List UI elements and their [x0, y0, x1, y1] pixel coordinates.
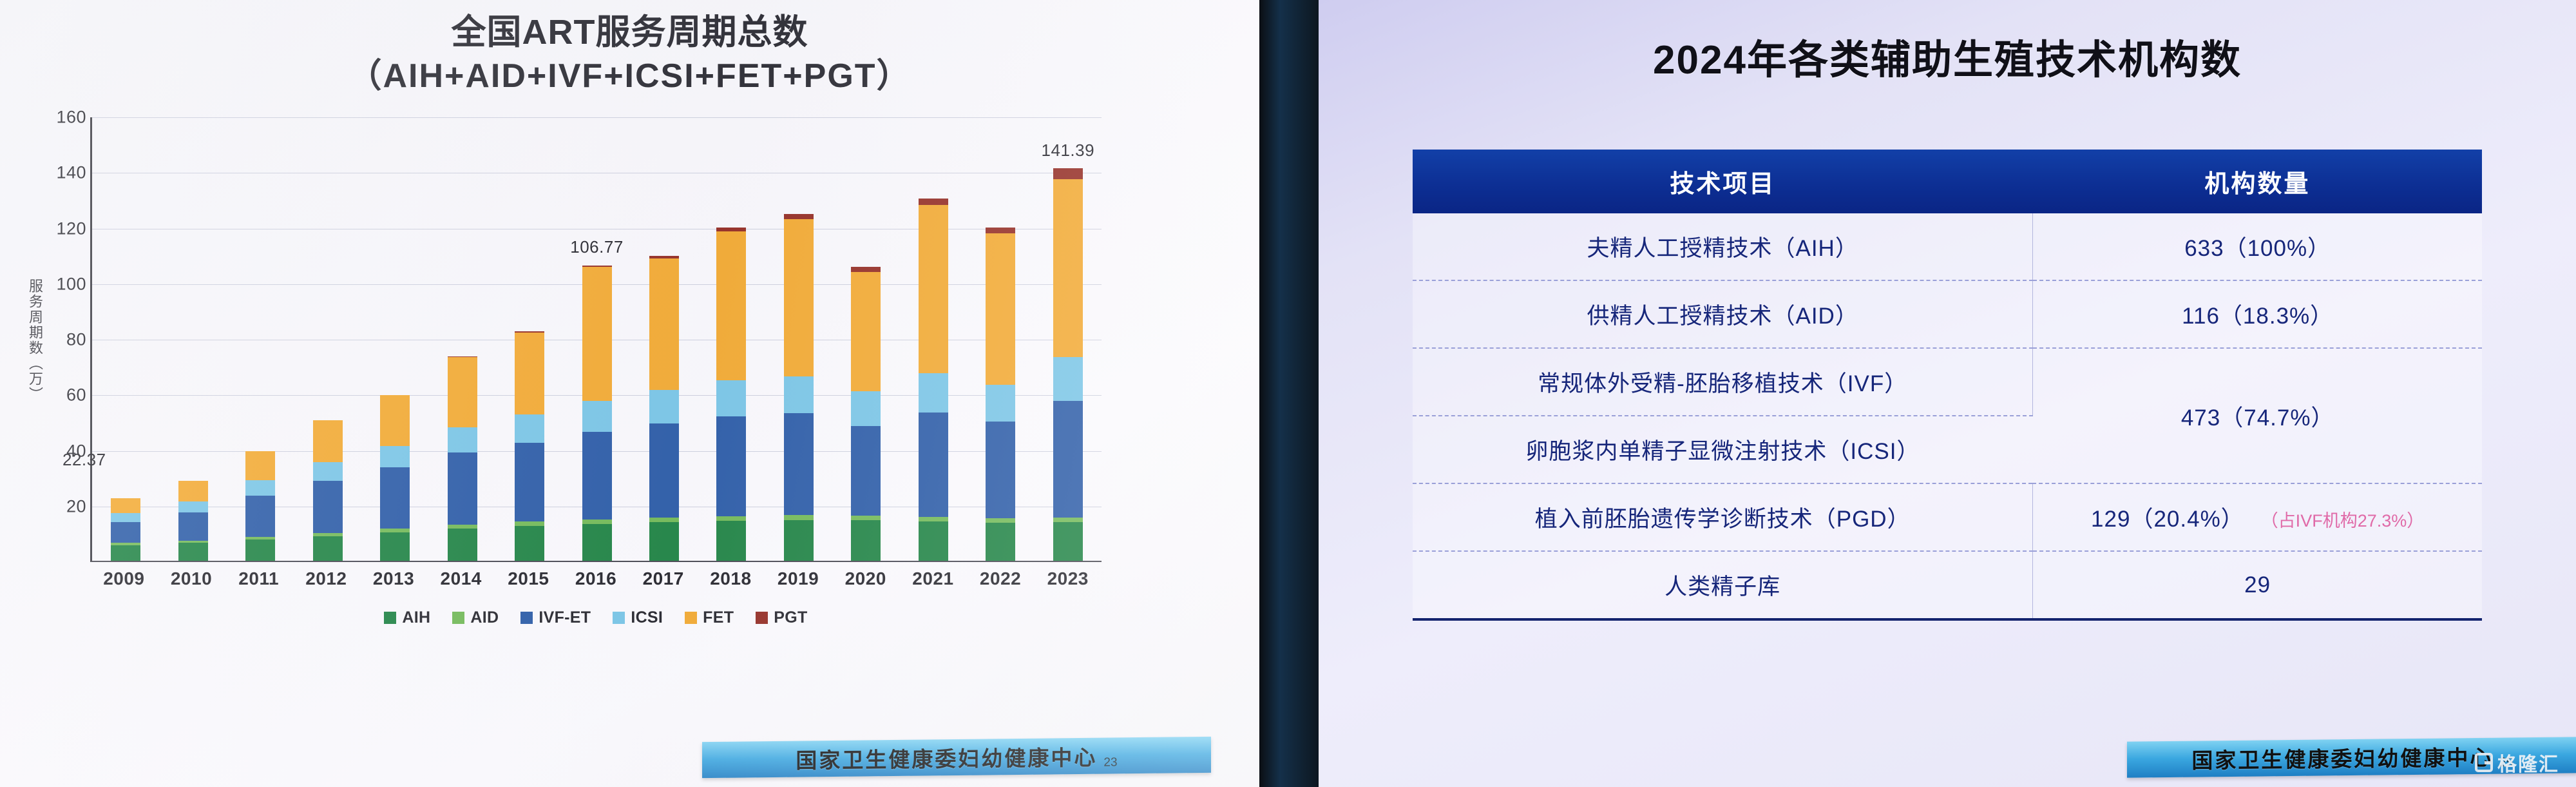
left-footer-text: 国家卫生健康委妇幼健康中心 [796, 741, 1097, 775]
bar-segment-aid [716, 516, 746, 521]
legend-label: PGT [774, 608, 807, 627]
bar-segment-pgt [919, 199, 948, 204]
legend-item-aih[interactable]: AIH [384, 608, 430, 627]
watermark-logo-icon [2475, 753, 2493, 772]
bar-value-label: 106.77 [570, 237, 624, 257]
legend-swatch-icon [384, 612, 396, 624]
stacked-bar[interactable] [448, 356, 477, 561]
bar-segment-icsi [111, 513, 140, 522]
stacked-bar[interactable] [784, 214, 814, 561]
table-head: 技术项目 机构数量 [1413, 150, 2482, 213]
bar-slot [698, 117, 765, 561]
legend-item-fet[interactable]: FET [685, 608, 734, 627]
bar-segment-icsi [245, 480, 275, 495]
bar-segment-aid [851, 516, 881, 520]
th-technique: 技术项目 [1413, 150, 2033, 213]
bar-segment-ivf-et [919, 413, 948, 517]
legend-label: IVF-ET [539, 608, 591, 627]
bar-segment-aih [380, 532, 410, 561]
legend-item-aid[interactable]: AID [452, 608, 499, 627]
bar-segment-fet [515, 333, 544, 415]
left-slide: 全国ART服务周期总数 （AIH+AID+IVF+ICSI+FET+PGT） 服… [0, 0, 1259, 787]
bar-segment-icsi [784, 376, 814, 414]
bar-segment-ivf-et [582, 432, 612, 520]
slide-divider [1259, 0, 1319, 787]
bar-slot [496, 117, 563, 561]
table-row: 常规体外受精-胚胎移植技术（IVF）473（74.7%） [1413, 348, 2482, 416]
stacked-bar[interactable] [178, 481, 208, 561]
stacked-bar[interactable] [380, 395, 410, 561]
cell-technique-name: 人类精子库 [1413, 551, 2033, 619]
institution-count-table: 技术项目 机构数量 夫精人工授精技术（AIH）633（100%）供精人工授精技术… [1413, 150, 2482, 621]
bar-segment-fet [1053, 179, 1083, 358]
stacked-bar[interactable] [851, 267, 881, 561]
bar-slot: 106.77 [563, 117, 630, 561]
bar-slot [361, 117, 428, 561]
bar-segment-pgt [784, 214, 814, 219]
watermark: 格隆汇 [2475, 748, 2559, 777]
table-body: 夫精人工授精技术（AIH）633（100%）供精人工授精技术（AID）116（1… [1413, 213, 2482, 619]
legend-swatch-icon [613, 612, 625, 624]
bar-segment-ivf-et [851, 426, 881, 516]
bar-segment-aih [716, 521, 746, 561]
bar-segment-fet [178, 481, 208, 501]
chart-title-line1: 全国ART服务周期总数 [0, 10, 1259, 55]
bar-segment-aih [448, 529, 477, 561]
bar-segment-fet [582, 267, 612, 401]
bar-segment-ivf-et [448, 452, 477, 525]
count-value: 29 [2244, 572, 2271, 598]
bar-segment-aih [178, 543, 208, 561]
bar-slot [765, 117, 832, 561]
y-axis-title: 服务周期数（万） [24, 278, 45, 402]
count-value: 633（100%） [2184, 230, 2331, 263]
x-tick-label: 2011 [225, 568, 292, 589]
legend-label: AIH [402, 608, 430, 627]
table-row: 人类精子库29 [1413, 551, 2482, 619]
legend-item-pgt[interactable]: PGT [756, 608, 807, 627]
bar-segment-ivf-et [649, 423, 679, 518]
bar-segment-aih [111, 545, 140, 561]
right-footer-text: 国家卫生健康委妇幼健康中心 [2191, 741, 2493, 775]
bar-segment-aih [851, 520, 881, 561]
bar-slot: 141.39 [1035, 117, 1102, 561]
legend-swatch-icon [520, 612, 533, 624]
bar-slot [967, 117, 1034, 561]
bar-segment-aih [515, 526, 544, 561]
cell-technique-name: 常规体外受精-胚胎移植技术（IVF） [1413, 348, 2033, 416]
legend-label: FET [703, 608, 734, 627]
right-slide: 2024年各类辅助生殖技术机构数 技术项目 机构数量 夫精人工授精技术（AIH）… [1319, 0, 2576, 787]
x-tick-label: 2023 [1034, 568, 1102, 589]
stacked-bar[interactable] [582, 266, 612, 561]
watermark-text: 格隆汇 [2497, 748, 2559, 777]
bar-segment-icsi [313, 462, 343, 481]
table-row: 夫精人工授精技术（AIH）633（100%） [1413, 213, 2482, 280]
bar-segment-aih [784, 520, 814, 561]
bar-slot [631, 117, 698, 561]
y-tick-label: 20 [66, 496, 86, 516]
bar-segment-fet [111, 498, 140, 513]
bar-slot: 22.37 [92, 117, 159, 561]
stacked-bar[interactable] [716, 228, 746, 561]
bar-segment-pgt [851, 267, 881, 271]
bar-segment-pgt [1053, 168, 1083, 179]
bar-segment-icsi [1053, 357, 1083, 401]
left-footer-page-number: 23 [1103, 755, 1117, 770]
bar-segment-ivf-et [784, 413, 814, 515]
cell-technique-name: 供精人工授精技术（AID） [1413, 280, 2033, 348]
bar-segment-icsi [380, 446, 410, 467]
legend-item-icsi[interactable]: ICSI [613, 608, 663, 627]
bar-segment-pgt [986, 228, 1015, 233]
left-footer-banner: 国家卫生健康委妇幼健康中心 23 [702, 737, 1211, 778]
legend-label: ICSI [631, 608, 663, 627]
bar-segment-fet [649, 258, 679, 390]
bar-slot [900, 117, 967, 561]
bar-slot [428, 117, 495, 561]
bar-segment-fet [919, 205, 948, 374]
cell-technique-name: 卵胞浆内单精子显微注射技术（ICSI） [1413, 416, 2033, 483]
bar-segment-ivf-et [111, 522, 140, 543]
y-tick-label: 120 [56, 219, 86, 238]
bar-segment-ivf-et [515, 443, 544, 521]
table-row: 供精人工授精技术（AID）116（18.3%） [1413, 280, 2482, 348]
bar-segment-icsi [986, 385, 1015, 422]
bar-slot [832, 117, 899, 561]
chart-title-line2: （AIH+AID+IVF+ICSI+FET+PGT） [0, 55, 1259, 98]
chart-legend: AIHAIDIVF-ETICSIFETPGT [90, 608, 1102, 627]
table-header-row: 技术项目 机构数量 [1413, 150, 2482, 213]
count-value: 116（18.3%） [2182, 298, 2333, 331]
stacked-bar[interactable] [986, 228, 1015, 561]
bar-segment-ivf-et [1053, 401, 1083, 517]
bar-segment-fet [448, 357, 477, 427]
bar-slot [159, 117, 226, 561]
bar-segment-fet [245, 451, 275, 481]
bar-segment-icsi [448, 427, 477, 452]
bar-segment-icsi [919, 373, 948, 413]
bar-segment-icsi [582, 401, 612, 432]
legend-swatch-icon [756, 612, 768, 624]
bar-slot [227, 117, 294, 561]
x-tick-label: 2014 [427, 568, 495, 589]
bar-segment-icsi [649, 390, 679, 423]
y-tick-label: 80 [66, 330, 86, 350]
bar-segment-aid [919, 517, 948, 521]
bar-segment-icsi [178, 501, 208, 513]
stacked-bar[interactable] [111, 498, 140, 561]
bar-segment-aih [1053, 522, 1083, 561]
legend-item-ivf-et[interactable]: IVF-ET [520, 608, 591, 627]
y-axis-tick-labels: 20406080100120140160 [50, 117, 86, 562]
x-tick-label: 2019 [765, 568, 832, 589]
bar-segment-fet [716, 231, 746, 381]
y-tick-label: 140 [56, 163, 86, 183]
stacked-bar[interactable] [919, 199, 948, 561]
bar-segment-fet [851, 272, 881, 392]
th-count: 机构数量 [2033, 150, 2482, 213]
slide-pair-screenshot: 全国ART服务周期总数 （AIH+AID+IVF+ICSI+FET+PGT） 服… [0, 0, 2576, 787]
cell-institution-count: 29 [2033, 551, 2482, 619]
bar-segment-icsi [851, 391, 881, 425]
cell-institution-count: 116（18.3%） [2033, 280, 2482, 348]
cell-institution-count: 129（20.4%）（占IVF机构27.3%） [2033, 483, 2482, 551]
plot-canvas: 22.37106.77141.39 [90, 117, 1102, 562]
y-tick-label: 60 [66, 385, 86, 405]
bar-segment-aih [649, 522, 679, 561]
y-tick-label: 160 [56, 108, 86, 128]
chart-title: 全国ART服务周期总数 （AIH+AID+IVF+ICSI+FET+PGT） [0, 10, 1259, 98]
bar-segment-ivf-et [313, 481, 343, 533]
bar-segment-aih [986, 523, 1015, 561]
bar-segment-fet [784, 219, 814, 376]
count-value: 129（20.4%） [2091, 501, 2244, 534]
count-note: （占IVF机构27.3%） [2261, 511, 2425, 530]
y-tick-label: 100 [56, 274, 86, 294]
stacked-bar[interactable] [245, 451, 275, 561]
x-tick-label: 2017 [629, 568, 697, 589]
bar-segment-aih [245, 539, 275, 561]
bar-slot [294, 117, 361, 561]
table-title: 2024年各类辅助生殖技术机构数 [1319, 27, 2576, 85]
legend-swatch-icon [685, 612, 697, 624]
bar-segment-icsi [716, 380, 746, 416]
x-tick-label: 2009 [90, 568, 158, 589]
table-row: 植入前胚胎遗传学诊断技术（PGD）129（20.4%）（占IVF机构27.3%） [1413, 483, 2482, 551]
x-tick-label: 2012 [292, 568, 360, 589]
chart-plot-area: 服务周期数（万） 20406080100120140160 22.37106.7… [90, 117, 1147, 627]
x-tick-label: 2016 [562, 568, 630, 589]
x-tick-label: 2015 [495, 568, 562, 589]
bar-segment-ivf-et [245, 496, 275, 537]
bar-segment-aid [649, 518, 679, 522]
cell-institution-count: 633（100%） [2033, 213, 2482, 280]
bar-segment-ivf-et [380, 467, 410, 529]
bar-segment-ivf-et [178, 512, 208, 540]
bar-segment-fet [313, 420, 343, 463]
bar-segment-aih [313, 536, 343, 561]
legend-label: AID [470, 608, 499, 627]
bar-segment-aih [582, 524, 612, 561]
cell-technique-name: 植入前胚胎遗传学诊断技术（PGD） [1413, 483, 2033, 551]
bar-segment-ivf-et [716, 416, 746, 516]
stacked-bar[interactable] [1053, 168, 1083, 561]
stacked-bar[interactable] [649, 256, 679, 561]
bar-segment-icsi [515, 414, 544, 443]
bar-segment-fet [380, 395, 410, 446]
x-tick-label: 2021 [899, 568, 967, 589]
cell-institution-count: 473（74.7%） [2033, 348, 2482, 483]
x-tick-label: 2018 [697, 568, 765, 589]
bar-segment-fet [986, 233, 1015, 385]
x-axis-tick-labels: 2009201020112012201320142015201620172018… [90, 568, 1102, 589]
legend-swatch-icon [452, 612, 464, 624]
x-tick-label: 2020 [832, 568, 899, 589]
stacked-bar[interactable] [313, 420, 343, 561]
bar-value-label: 22.37 [62, 450, 106, 470]
bar-series-group: 22.37106.77141.39 [92, 117, 1102, 561]
stacked-bar[interactable] [515, 331, 544, 561]
bar-segment-aih [919, 521, 948, 561]
bar-segment-aid [784, 515, 814, 520]
cell-technique-name: 夫精人工授精技术（AIH） [1413, 213, 2033, 280]
x-tick-label: 2022 [967, 568, 1035, 589]
bar-segment-ivf-et [986, 422, 1015, 518]
bar-value-label: 141.39 [1042, 141, 1095, 160]
bar-segment-aid [1053, 518, 1083, 522]
x-tick-label: 2013 [360, 568, 428, 589]
x-tick-label: 2010 [158, 568, 225, 589]
